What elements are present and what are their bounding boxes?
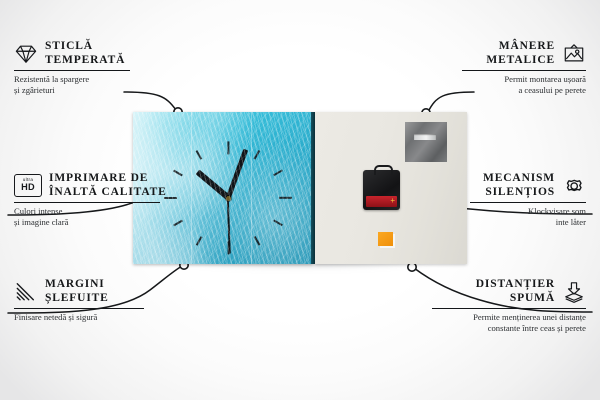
callout-handles-head: MÂNERE METALICE	[462, 40, 586, 67]
callout-spacer-sub-2: constante între ceas și perete	[432, 323, 586, 334]
callout-print-title-2: ÎNALTĂ CALITATE	[49, 186, 167, 200]
callout-handles-title-2: METALICE	[486, 54, 555, 68]
clock-tick	[196, 150, 203, 160]
callout-glass: STICLĂ TEMPERATĂ Rezistentă la spargere …	[14, 40, 130, 95]
callout-mechanism-sub-2: inte låter	[470, 217, 586, 228]
clock-movement: +	[363, 170, 400, 210]
callout-handles: MÂNERE METALICE Permit montarea ușoară a…	[462, 40, 586, 95]
callout-edges-title-1: MARGINI	[45, 278, 109, 292]
callout-mechanism-rule	[470, 202, 586, 203]
clock-minute-hand	[226, 148, 248, 199]
callout-edges-head: MARGINI ȘLEFUITE	[14, 278, 144, 305]
callout-mechanism-title-2: SILENȚIOS	[483, 186, 555, 200]
gear-icon	[562, 175, 586, 197]
callout-print-sub-2: și imagine clară	[14, 217, 160, 228]
clock-center-hub	[226, 196, 231, 201]
callout-mechanism: MECANISM SILENȚIOS Klockvisare som inte …	[470, 172, 586, 227]
callout-edges-sub-1: Finisare netedă și sigură	[14, 312, 144, 323]
callout-handles-sub-1: Permit montarea ușoară	[462, 74, 586, 85]
callout-print-head: ultra HD IMPRIMARE DE ÎNALTĂ CALITATE	[14, 172, 160, 199]
callout-print: ultra HD IMPRIMARE DE ÎNALTĂ CALITATE Cu…	[14, 172, 160, 227]
callout-handles-title-1: MÂNERE	[486, 40, 555, 54]
callout-handles-rule	[462, 70, 586, 71]
clock-tick	[227, 142, 229, 155]
clock-hour-hand	[196, 170, 230, 200]
callout-spacer-title-1: DISTANȚIER	[476, 278, 555, 292]
callout-spacer-head: DISTANȚIER SPUMĂ	[432, 278, 586, 305]
callout-glass-title-1: STICLĂ	[45, 40, 125, 54]
callout-print-title-1: IMPRIMARE DE	[49, 172, 167, 186]
callout-edges-title-2: ȘLEFUITE	[45, 292, 109, 306]
callout-glass-title-2: TEMPERATĂ	[45, 54, 125, 68]
callout-glass-rule	[14, 70, 130, 71]
clock-tick	[273, 219, 283, 226]
clock-tick	[279, 197, 292, 199]
foam-spacer	[378, 232, 393, 246]
clock-tick	[273, 170, 283, 177]
clock-second-hand	[227, 198, 231, 254]
foam-spacer-icon	[562, 281, 586, 303]
callout-mechanism-title-1: MECANISM	[483, 172, 555, 186]
clock-tick	[196, 236, 203, 246]
clock-tick	[227, 241, 229, 254]
picture-hanger-icon	[562, 43, 586, 65]
product-image: +	[133, 112, 467, 264]
callout-mechanism-head: MECANISM SILENȚIOS	[470, 172, 586, 199]
callout-glass-sub-2: și zgârieturi	[14, 85, 130, 96]
diamond-icon	[14, 43, 38, 65]
ultra-hd-badge-icon: ultra HD	[14, 174, 42, 197]
callout-spacer-title-2: SPUMĂ	[476, 292, 555, 306]
clock-back-panel: +	[315, 112, 467, 264]
clock-tick	[173, 170, 183, 177]
callout-edges: MARGINI ȘLEFUITE Finisare netedă și sigu…	[14, 278, 144, 323]
battery: +	[366, 196, 397, 207]
callout-mechanism-sub-1: Klockvisare som	[470, 206, 586, 217]
movement-hanger-loop	[374, 165, 393, 175]
hanger-slot	[414, 134, 436, 140]
clock-tick	[173, 219, 183, 226]
callout-spacer: DISTANȚIER SPUMĂ Permite menținerea unei…	[432, 278, 586, 333]
ultra-hd-badge-main: HD	[21, 183, 35, 193]
callout-edges-rule	[14, 308, 144, 309]
metal-hanger-plate	[405, 122, 447, 162]
clock-tick	[254, 236, 261, 246]
callout-glass-sub-1: Rezistentă la spargere	[14, 74, 130, 85]
callout-handles-sub-2: a ceasului pe perete	[462, 85, 586, 96]
callout-print-rule	[14, 202, 160, 203]
clock-tick	[254, 150, 261, 160]
callout-glass-head: STICLĂ TEMPERATĂ	[14, 40, 130, 67]
callout-spacer-sub-1: Permite menținerea unei distanțe	[432, 312, 586, 323]
polished-edges-icon	[14, 281, 38, 303]
callout-print-sub-1: Culori intense	[14, 206, 160, 217]
callout-spacer-rule	[432, 308, 586, 309]
infographic-canvas: + STICLĂ TEMPERATĂ Reziste	[0, 0, 600, 400]
battery-plus-icon: +	[390, 197, 395, 205]
